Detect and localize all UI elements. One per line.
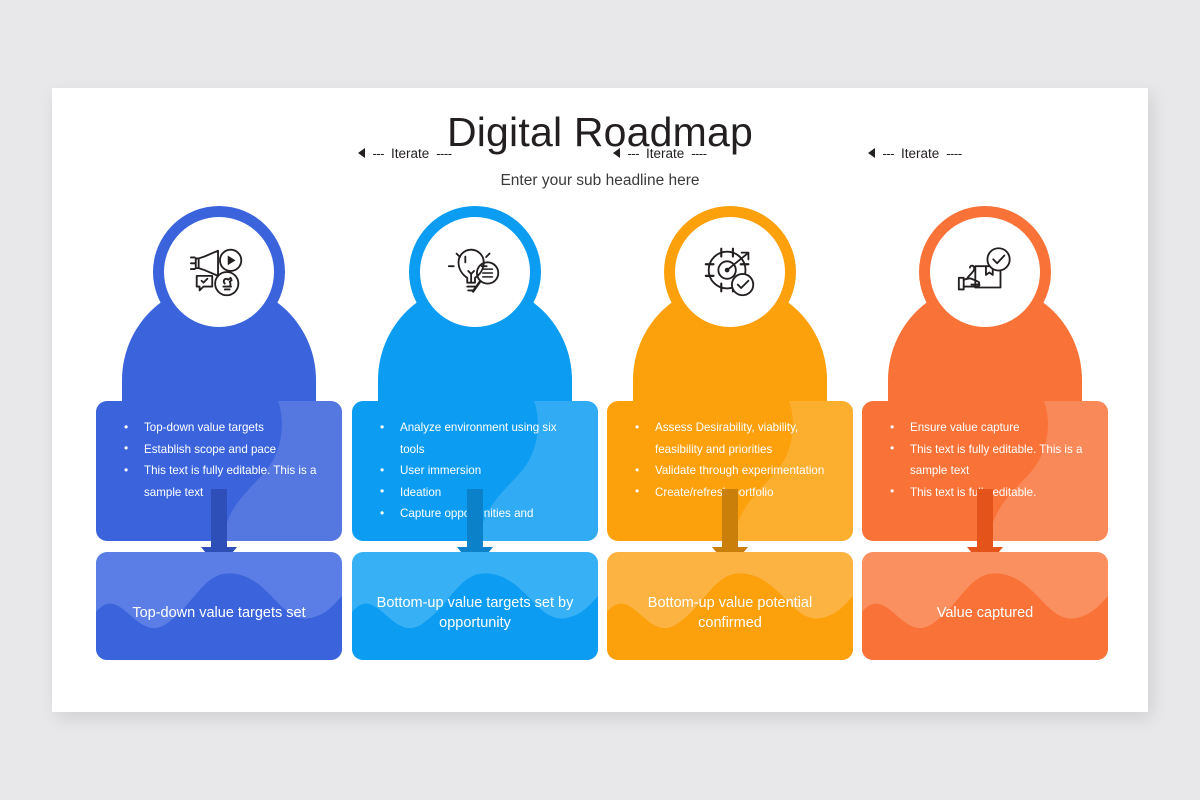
- list-item: Validate through experimentation: [625, 460, 839, 482]
- arrow-left-icon: [613, 148, 620, 158]
- connector-dash-right: ----: [436, 146, 451, 161]
- arrow-left-icon: [868, 148, 875, 158]
- outcome-label: Top-down value targets set: [96, 603, 342, 623]
- step-icon-circle: [409, 206, 541, 338]
- connector-label: Iterate: [901, 146, 939, 161]
- megaphone-strategy-icon: [188, 241, 250, 303]
- page-subtitle: Enter your sub headline here: [52, 172, 1148, 190]
- step-icon-inner: [164, 217, 274, 327]
- connector-label: Iterate: [391, 146, 429, 161]
- step-icon-circle: [153, 206, 285, 338]
- connector-dash-right: ----: [691, 146, 706, 161]
- connector-iterate-3: --- Iterate ----: [840, 142, 990, 164]
- outcome-label: Value captured: [862, 603, 1108, 623]
- connector-dash-left: ---: [372, 146, 384, 161]
- package-handover-check-icon: [954, 241, 1016, 303]
- outcome-card: Bottom-up value targets set by opportuni…: [352, 552, 598, 660]
- connector-iterate-1: --- Iterate ----: [330, 142, 480, 164]
- roadmap-column-define[interactable]: 3. Define As: [607, 206, 853, 692]
- step-icon-inner: [930, 217, 1040, 327]
- list-item: Establish scope and pace: [114, 439, 328, 461]
- roadmap-column-deliver[interactable]: 4. Deliver E: [862, 206, 1108, 692]
- target-arrow-check-icon: [699, 241, 761, 303]
- list-item: Top-down value targets: [114, 417, 328, 439]
- list-item: Ensure value capture: [880, 417, 1094, 439]
- outcome-card: Top-down value targets set: [96, 552, 342, 660]
- connector-label: Iterate: [646, 146, 684, 161]
- roadmap-column-digital-strategy[interactable]: 1. Digital Strategy: [96, 206, 342, 692]
- outcome-card: Value captured: [862, 552, 1108, 660]
- connector-dash-right: ----: [946, 146, 961, 161]
- step-icon-inner: [675, 217, 785, 327]
- outcome-label: Bottom-up value potential confirmed: [607, 593, 853, 633]
- list-item: User immersion: [370, 460, 584, 482]
- lightbulb-magnifier-icon: [444, 241, 506, 303]
- step-icon-circle: [664, 206, 796, 338]
- outcome-card: Bottom-up value potential confirmed: [607, 552, 853, 660]
- connector-dash-left: ---: [882, 146, 894, 161]
- slide-canvas: Digital Roadmap Enter your sub headline …: [52, 88, 1148, 712]
- step-icon-circle: [919, 206, 1051, 338]
- list-item: This text is fully editable. This is a s…: [880, 439, 1094, 482]
- outcome-label: Bottom-up value targets set by opportuni…: [352, 593, 598, 633]
- roadmap-column-discover[interactable]: 2. Discover Analyze env: [352, 206, 598, 692]
- list-item: Analyze environment using six tools: [370, 417, 584, 460]
- list-item: Assess Desirability, viability, feasibil…: [625, 417, 839, 460]
- arrow-left-icon: [358, 148, 365, 158]
- step-icon-inner: [420, 217, 530, 327]
- connector-iterate-2: --- Iterate ----: [585, 142, 735, 164]
- connector-dash-left: ---: [627, 146, 639, 161]
